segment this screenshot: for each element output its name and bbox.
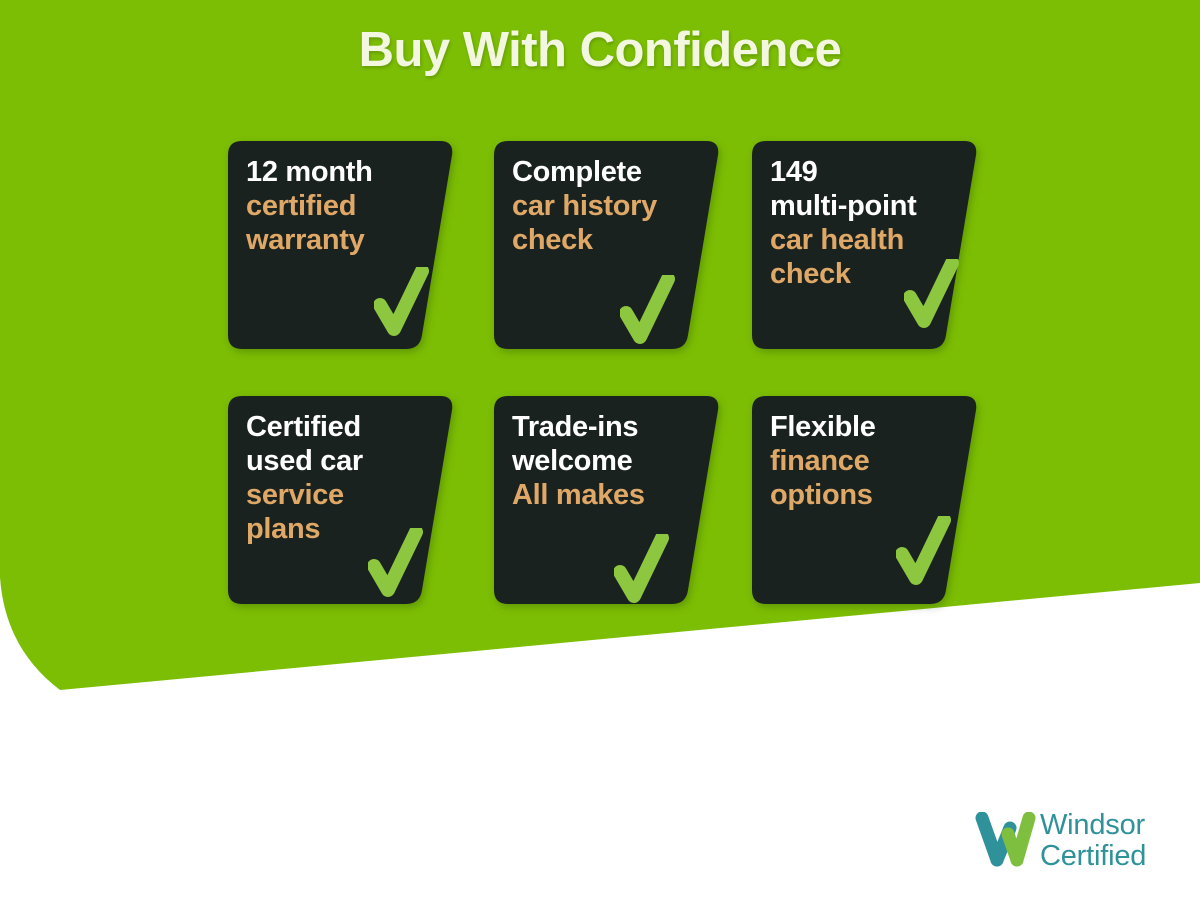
feature-card-car-history-check[interactable]: Complete car history check: [494, 141, 724, 349]
card-text: Trade-ins welcome All makes: [512, 410, 702, 512]
card-accent-line: warranty: [246, 223, 436, 257]
card-accent-line: options: [770, 478, 960, 512]
card-headline-line: Flexible: [770, 410, 960, 444]
card-text: 12 month certified warranty: [246, 155, 436, 257]
card-headline-line: Complete: [512, 155, 702, 189]
card-text: Certified used car service plans: [246, 410, 436, 546]
card-headline-line: welcome: [512, 444, 702, 478]
feature-card-car-health-check[interactable]: 149 multi-point car health check: [752, 141, 982, 349]
checkmark-icon: [904, 259, 960, 331]
card-accent-line: check: [512, 223, 702, 257]
card-headline-line: used car: [246, 444, 436, 478]
card-text: Flexible finance options: [770, 410, 960, 512]
card-headline-line: 149: [770, 155, 960, 189]
card-headline-line: multi-point: [770, 189, 960, 223]
feature-card-service-plans[interactable]: Certified used car service plans: [228, 396, 458, 604]
checkmark-icon: [374, 267, 430, 339]
card-headline-line: Trade-ins: [512, 410, 702, 444]
checkmark-icon: [896, 516, 952, 588]
card-accent-line: car health: [770, 223, 960, 257]
windsor-w-icon: [974, 812, 1036, 872]
card-accent-line: All makes: [512, 478, 702, 512]
card-accent-line: certified: [246, 189, 436, 223]
card-accent-line: car history: [512, 189, 702, 223]
checkmark-icon: [614, 534, 670, 606]
page-title: Buy With Confidence: [0, 22, 1200, 78]
feature-card-certified-warranty[interactable]: 12 month certified warranty: [228, 141, 458, 349]
checkmark-icon: [620, 275, 676, 347]
card-accent-line: service: [246, 478, 436, 512]
card-headline-line: 12 month: [246, 155, 436, 189]
card-text: Complete car history check: [512, 155, 702, 257]
windsor-certified-logo[interactable]: Windsor Certified: [974, 810, 1174, 882]
feature-card-trade-ins[interactable]: Trade-ins welcome All makes: [494, 396, 724, 604]
card-accent-line: finance: [770, 444, 960, 478]
logo-line-1: Windsor: [1040, 810, 1146, 841]
logo-wordmark: Windsor Certified: [1040, 810, 1146, 872]
card-headline-line: Certified: [246, 410, 436, 444]
checkmark-icon: [368, 528, 424, 600]
logo-line-2: Certified: [1040, 841, 1146, 872]
poster-canvas: Buy With Confidence 12 month certified w…: [0, 0, 1200, 900]
feature-card-finance-options[interactable]: Flexible finance options: [752, 396, 982, 604]
